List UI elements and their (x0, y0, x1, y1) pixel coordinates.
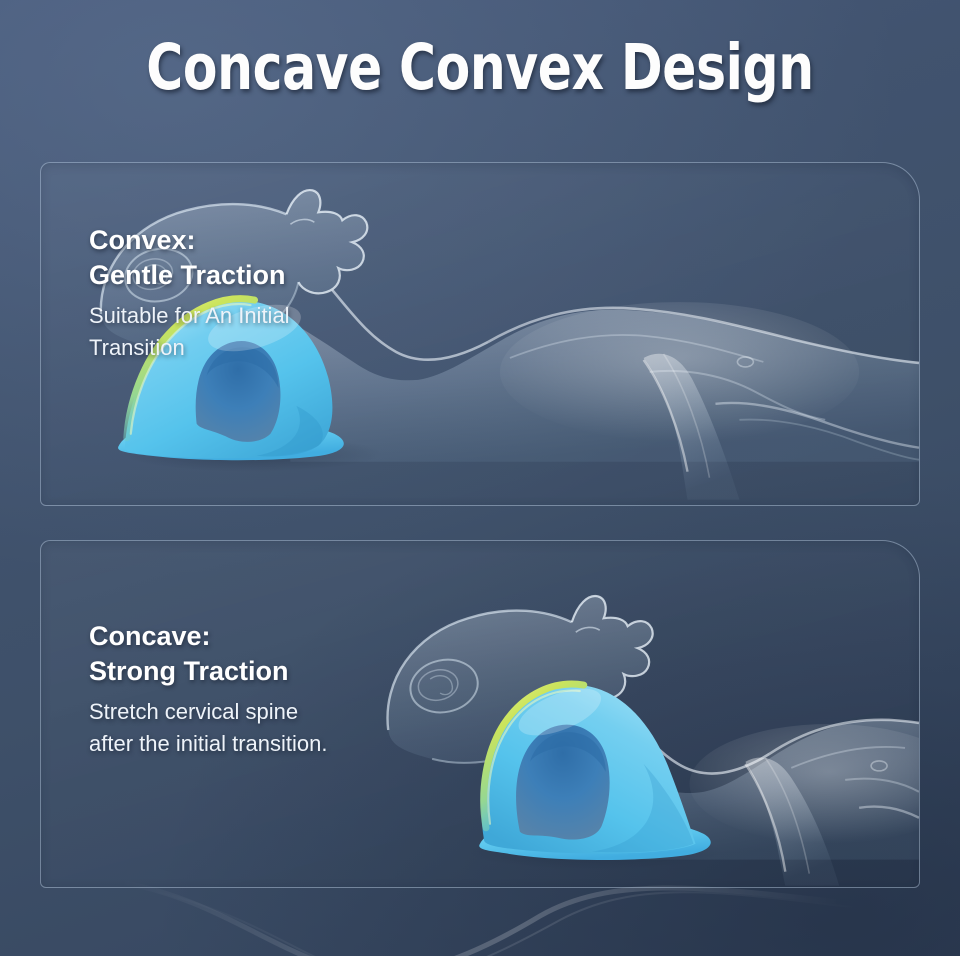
caption-convex: Convex: Gentle Traction Suitable for An … (89, 223, 290, 364)
bedsheet-fold-concave (745, 758, 839, 886)
pillow-shadow-concave (468, 834, 723, 870)
subtext-line-1: Stretch cervical spine (89, 696, 327, 728)
subtext-line-2: after the initial transition. (89, 728, 327, 760)
pillow-concave (479, 679, 711, 860)
heading-line-1: Convex: (89, 223, 290, 258)
panel-concave: Concave: Strong Traction Stretch cervica… (40, 540, 920, 888)
panel-convex: Convex: Gentle Traction Suitable for An … (40, 162, 920, 506)
heading-line-2: Gentle Traction (89, 258, 290, 293)
poster-root: Concave Convex Design (0, 0, 960, 956)
pillow-shadow-convex (123, 436, 382, 472)
bedsheet-fold-convex (644, 354, 740, 500)
caption-concave: Concave: Strong Traction Stretch cervica… (89, 619, 327, 760)
subtext-line-1: Suitable for An Initial (89, 300, 290, 332)
heading-line-2: Strong Traction (89, 654, 327, 689)
figure-torso-convex (276, 290, 919, 462)
figure-torso-concave (564, 702, 919, 860)
heading-line-1: Concave: (89, 619, 327, 654)
figure-head-concave (387, 596, 652, 763)
background-wisp-decoration (0, 880, 960, 956)
page-title: Concave Convex Design (96, 36, 864, 99)
subtext-line-2: Transition (89, 332, 290, 364)
ear-outline-concave (406, 654, 483, 719)
